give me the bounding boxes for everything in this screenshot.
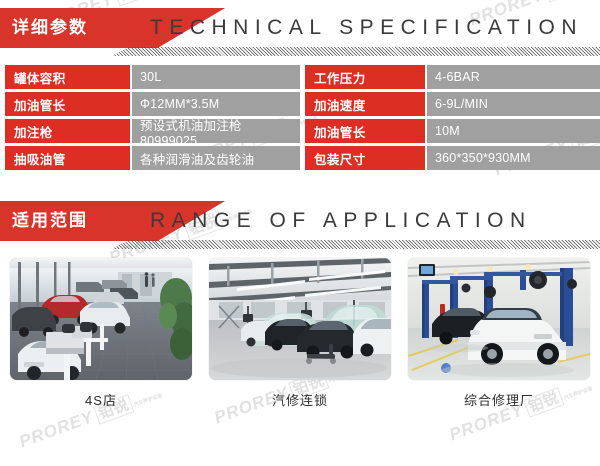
spec-value: 各种润滑油及齿轮油 — [132, 146, 300, 170]
table-row: 加注枪 预设式机油加注枪 80999025 加油管长 10M — [0, 119, 600, 143]
table-row: 抽吸油管 各种润滑油及齿轮油 包装尺寸 360*350*930MM — [0, 146, 600, 170]
section-header-technical: 详细参数 TECHNICAL SPECIFICATION — [0, 0, 600, 56]
gallery-card[interactable]: 4S店 — [10, 258, 192, 409]
spec-value: Φ12MM*3.5M — [132, 92, 300, 116]
spec-cell-pair: 加注枪 预设式机油加注枪 80999025 — [0, 119, 300, 143]
spec-cell-pair: 罐体容积 30L — [0, 65, 300, 89]
photo-repair-chain-workshop — [209, 258, 391, 380]
spec-cell-pair: 加油管长 10M — [300, 119, 600, 143]
section-header-range: 适用范围 RANGE OF APPLICATION — [0, 193, 600, 249]
section-title-cn: 详细参数 — [0, 8, 88, 48]
spec-value: 360*350*930MM — [427, 146, 600, 170]
spec-cell-pair: 加油管长 Φ12MM*3.5M — [0, 92, 300, 116]
spec-label: 抽吸油管 — [5, 146, 130, 170]
spec-cell-pair: 抽吸油管 各种润滑油及齿轮油 — [0, 146, 300, 170]
spec-cell-pair: 加油速度 6-9L/MIN — [300, 92, 600, 116]
section-title-en: RANGE OF APPLICATION — [150, 201, 532, 241]
range-of-application-section: 适用范围 RANGE OF APPLICATION — [0, 193, 600, 409]
spec-label: 罐体容积 — [5, 65, 130, 89]
spec-value: 预设式机油加注枪 80999025 — [132, 119, 300, 143]
section-title-cn: 适用范围 — [0, 201, 88, 241]
spec-value: 4-6BAR — [427, 65, 600, 89]
spec-label: 加油管长 — [305, 119, 425, 143]
spec-label: 包装尺寸 — [305, 146, 425, 170]
spec-label: 加注枪 — [5, 119, 130, 143]
photo-car-showroom — [10, 258, 192, 380]
watermark-en: PROREY — [17, 407, 97, 451]
spec-table: 罐体容积 30L 工作压力 4-6BAR 加油管长 Φ12MM*3.5M 加油速… — [0, 65, 600, 170]
technical-specification-section: 详细参数 TECHNICAL SPECIFICATION 罐体容积 30L 工作… — [0, 0, 600, 170]
gallery-card[interactable]: 综合修理厂 — [408, 258, 590, 409]
hatched-divider — [112, 47, 600, 56]
spec-cell-pair: 包装尺寸 360*350*930MM — [300, 146, 600, 170]
gallery-caption: 综合修理厂 — [408, 390, 590, 409]
photo-general-repair-garage — [408, 258, 590, 380]
table-row: 罐体容积 30L 工作压力 4-6BAR — [0, 65, 600, 89]
spec-value: 10M — [427, 119, 600, 143]
spec-label: 加油管长 — [5, 92, 130, 116]
spec-label: 加油速度 — [305, 92, 425, 116]
application-gallery: 4S店 — [0, 249, 600, 409]
table-row: 加油管长 Φ12MM*3.5M 加油速度 6-9L/MIN — [0, 92, 600, 116]
gallery-card[interactable]: 汽修连锁 — [209, 258, 391, 409]
spec-value: 6-9L/MIN — [427, 92, 600, 116]
gallery-caption: 4S店 — [10, 390, 192, 409]
section-title-en: TECHNICAL SPECIFICATION — [150, 8, 583, 48]
spec-cell-pair: 工作压力 4-6BAR — [300, 65, 600, 89]
gallery-caption: 汽修连锁 — [209, 390, 391, 409]
spec-value: 30L — [132, 65, 300, 89]
spec-label: 工作压力 — [305, 65, 425, 89]
hatched-divider — [112, 240, 600, 249]
